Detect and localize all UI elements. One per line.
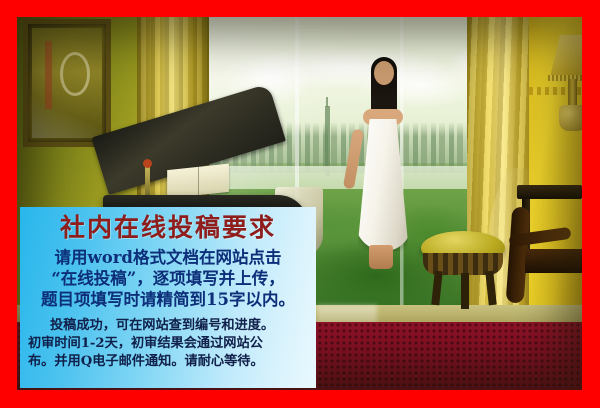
poster-root: 社内在线投稿要求 请用word格式文档在网站点击 “在线投稿”，逐项填写并上传，… [0, 0, 600, 408]
panel-title: 社内在线投稿要求 [26, 213, 310, 244]
white-dress [355, 119, 411, 251]
side-table [517, 185, 582, 199]
wooden-chair-seat [525, 249, 582, 273]
ottoman-leg-center [461, 273, 469, 309]
review-note-line: 投稿成功，可在网站查到编号和进度。 [28, 317, 308, 335]
artwork-canvas [32, 28, 102, 138]
review-notes: 投稿成功，可在网站查到编号和进度。 初审时间1-2天，初审结果会通过网站公 布。… [26, 317, 310, 371]
legs [369, 245, 393, 269]
instruction-line: “在线投稿”，逐项填写并上传， [26, 268, 310, 289]
lamp-neck [568, 79, 577, 107]
framed-artwork [23, 19, 111, 147]
instruction-line: 请用word格式文档在网站点击 [26, 247, 310, 268]
announcement-panel: 社内在线投稿要求 请用word格式文档在网站点击 “在线投稿”，逐项填写并上传，… [20, 207, 316, 388]
head [374, 61, 394, 85]
lamp-base [559, 105, 582, 131]
woman-in-white-dress [347, 57, 417, 272]
review-note-line: 布。并用Q电子邮件通知。请耐心等待。 [28, 353, 308, 371]
left-arm [343, 129, 364, 190]
review-note-line: 初审时间1-2天，初审结果会通过网站公 [28, 335, 308, 353]
submission-instructions: 请用word格式文档在网站点击 “在线投稿”，逐项填写并上传， 题目项填写时请精… [26, 247, 310, 311]
instruction-line: 题目项填写时请精简到15字以内。 [26, 289, 310, 310]
